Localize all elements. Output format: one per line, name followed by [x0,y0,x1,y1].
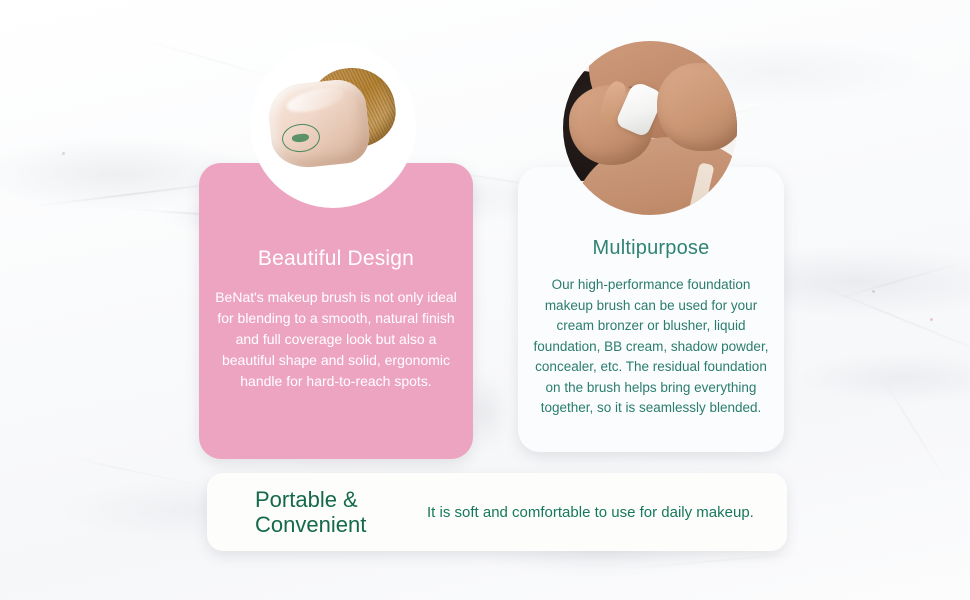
marble-vein [823,258,970,303]
card-title-portable-convenient: Portable & Convenient [255,487,423,537]
marble-speck [872,290,875,293]
card-title-beautiful-design: Beautiful Design [199,247,473,271]
brush-product-image [250,42,416,208]
model-right-hand [657,63,737,151]
card-body-portable-convenient: It is soft and comfortable to use for da… [427,501,763,524]
card-portable-convenient: Portable & Convenient It is soft and com… [207,473,787,551]
marble-speck [930,318,933,321]
marble-speck [62,152,65,155]
marble-vein [610,550,829,570]
card-body-multipurpose: Our high-performance foundation makeup b… [533,275,769,419]
marble-vein [798,277,970,364]
marble-vein [875,367,955,495]
brush-illustration [250,42,416,208]
marble-vein [42,451,218,489]
feature-banner: Beautiful Design BeNat's makeup brush is… [0,0,970,600]
application-illustration [563,41,737,215]
card-body-beautiful-design: BeNat's makeup brush is not only ideal f… [213,287,459,392]
card-title-multipurpose: Multipurpose [518,237,784,260]
foundation-application-image [563,41,737,215]
